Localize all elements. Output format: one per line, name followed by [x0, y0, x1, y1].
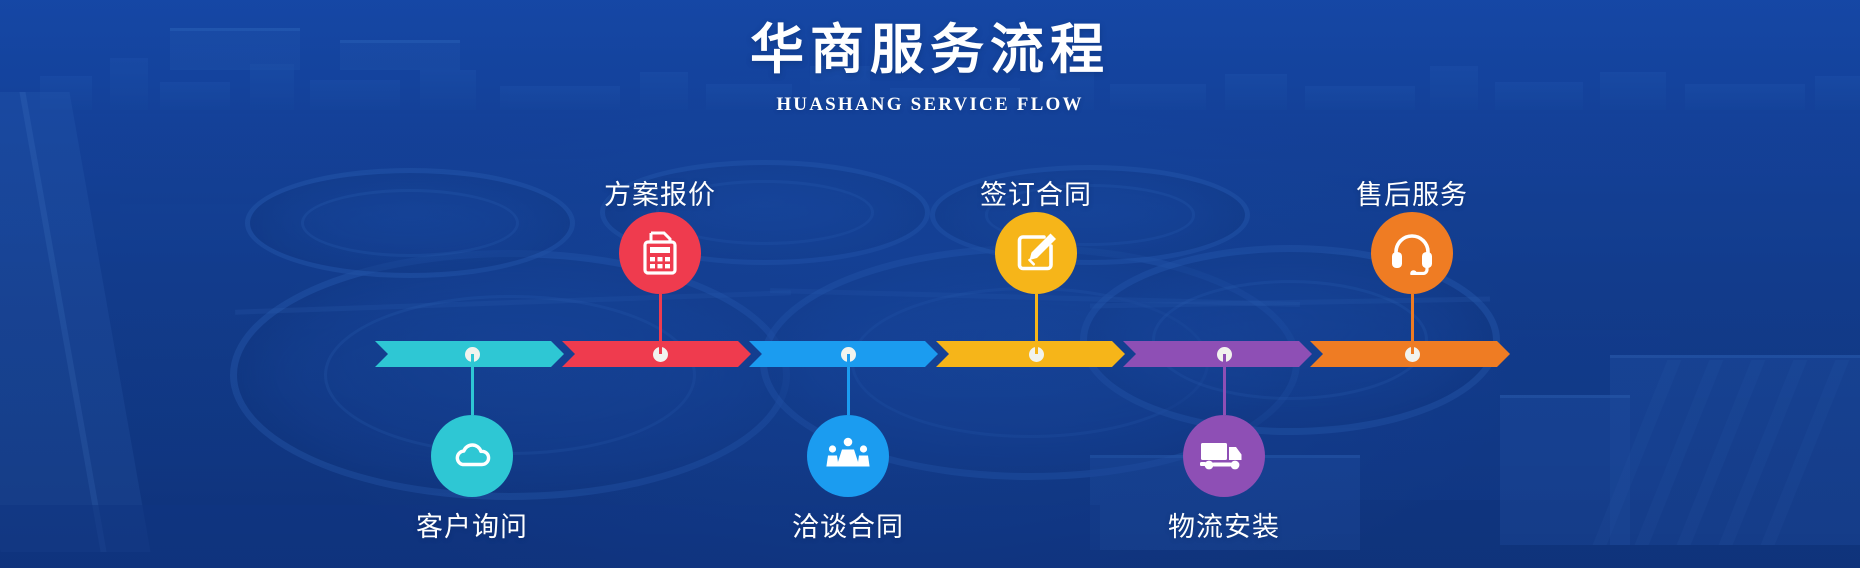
step-label-3: 洽谈合同	[792, 505, 904, 544]
meeting-icon	[825, 435, 871, 477]
headset-icon	[1389, 231, 1435, 275]
step-circle-5[interactable]	[1183, 415, 1265, 497]
flow-infographic: 华商服务流程 HUASHANG SERVICE FLOW 客户询问方案报价洽谈合…	[0, 0, 1860, 568]
step-label-4: 签订合同	[980, 173, 1092, 212]
header-block: 华商服务流程 HUASHANG SERVICE FLOW	[0, 18, 1860, 116]
page-subtitle: HUASHANG SERVICE FLOW	[0, 94, 1860, 116]
calculator-icon	[639, 230, 681, 276]
page-title: 华商服务流程	[0, 18, 1860, 82]
step-label-5: 物流安装	[1168, 505, 1280, 544]
connector-stem-3	[847, 354, 850, 415]
step-circle-6[interactable]	[1371, 212, 1453, 294]
connector-stem-6	[1411, 294, 1414, 354]
truck-icon	[1200, 438, 1248, 474]
step-label-2: 方案报价	[604, 173, 716, 212]
step-circle-1[interactable]	[431, 415, 513, 497]
connector-stem-1	[471, 354, 474, 415]
connector-stem-5	[1223, 354, 1226, 415]
pen-edit-icon	[1013, 230, 1059, 276]
flow-arrow-ribbon	[375, 341, 1510, 367]
connector-stem-4	[1035, 294, 1038, 354]
step-circle-4[interactable]	[995, 212, 1077, 294]
step-circle-2[interactable]	[619, 212, 701, 294]
step-label-6: 售后服务	[1356, 173, 1468, 212]
connector-stem-2	[659, 294, 662, 354]
cloud-icon	[450, 434, 494, 478]
step-circle-3[interactable]	[807, 415, 889, 497]
step-label-1: 客户询问	[416, 505, 528, 544]
